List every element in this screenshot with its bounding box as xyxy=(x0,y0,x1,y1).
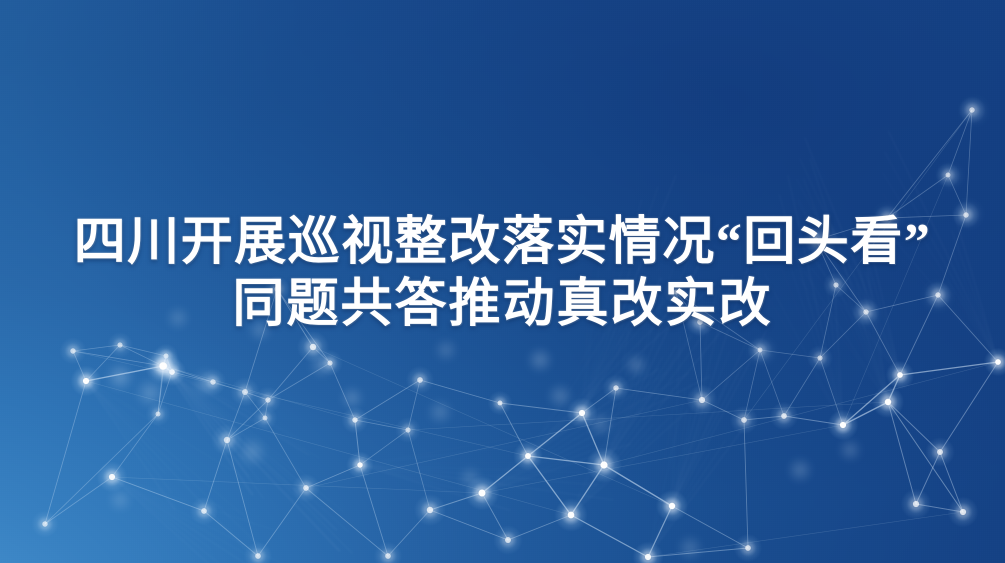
title-line-2: 同题共答推动真改实改 xyxy=(0,274,1005,336)
title-line-1: 四川开展巡视整改落实情况“回头看” xyxy=(0,212,1005,274)
slide-root: 四川开展巡视整改落实情况“回头看” 同题共答推动真改实改 xyxy=(0,0,1005,563)
slide-title: 四川开展巡视整改落实情况“回头看” 同题共答推动真改实改 xyxy=(0,212,1005,336)
